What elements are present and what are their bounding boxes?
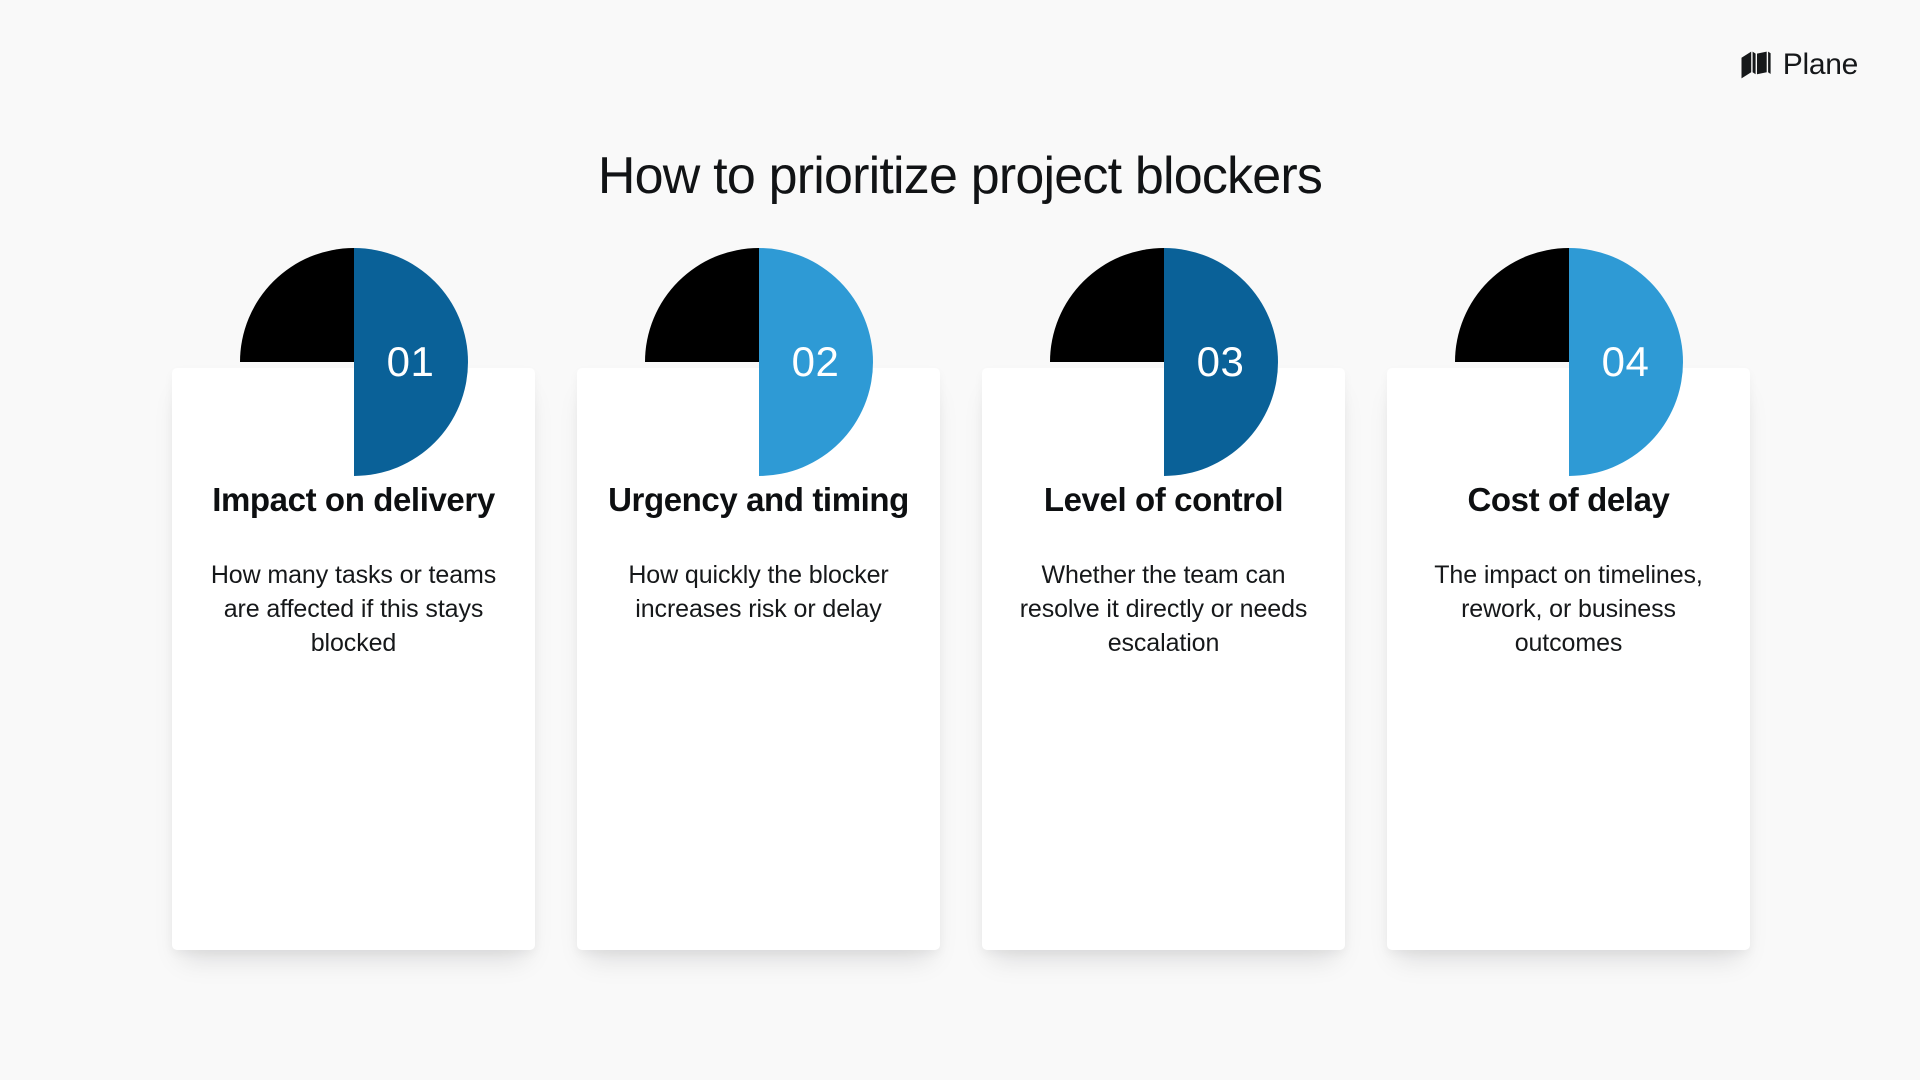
card-item: 01 Impact on delivery How many tasks or … — [172, 368, 535, 950]
plane-logo-icon — [1739, 48, 1773, 82]
pie-half-right — [1164, 248, 1278, 476]
card-description: Whether the team can resolve it directly… — [1008, 558, 1319, 660]
card-text: Impact on delivery How many tasks or tea… — [172, 480, 535, 660]
card-item: 02 Urgency and timing How quickly the bl… — [577, 368, 940, 950]
pie-quadrant-top-left — [1455, 248, 1569, 362]
step-number: 03 — [1164, 341, 1278, 383]
brand-wordmark: Plane — [1783, 50, 1858, 80]
step-pie-graphic: 03 — [1050, 248, 1278, 476]
pie-quadrant-top-left — [240, 248, 354, 362]
step-number: 02 — [759, 341, 873, 383]
card-heading: Level of control — [1008, 480, 1319, 520]
card-heading: Impact on delivery — [198, 480, 509, 520]
card-text: Level of control Whether the team can re… — [982, 480, 1345, 660]
step-number: 01 — [354, 341, 468, 383]
brand-logo: Plane — [1739, 48, 1858, 82]
page-title: How to prioritize project blockers — [0, 147, 1920, 207]
pie-half-right — [354, 248, 468, 476]
step-pie-graphic: 04 — [1455, 248, 1683, 476]
card-description: The impact on timelines, rework, or busi… — [1413, 558, 1724, 660]
card-heading: Cost of delay — [1413, 480, 1724, 520]
card-description: How many tasks or teams are affected if … — [198, 558, 509, 660]
card-text: Urgency and timing How quickly the block… — [577, 480, 940, 626]
step-number: 04 — [1569, 341, 1683, 383]
step-pie-graphic: 01 — [240, 248, 468, 476]
card-text: Cost of delay The impact on timelines, r… — [1387, 480, 1750, 660]
pie-quadrant-top-left — [1050, 248, 1164, 362]
card-heading: Urgency and timing — [603, 480, 914, 520]
pie-quadrant-top-left — [645, 248, 759, 362]
card-item: 04 Cost of delay The impact on timelines… — [1387, 368, 1750, 950]
pie-half-right — [1569, 248, 1683, 476]
step-pie-graphic: 02 — [645, 248, 873, 476]
card-item: 03 Level of control Whether the team can… — [982, 368, 1345, 950]
card-grid: 01 Impact on delivery How many tasks or … — [172, 368, 1750, 950]
card-description: How quickly the blocker increases risk o… — [603, 558, 914, 626]
pie-half-right — [759, 248, 873, 476]
